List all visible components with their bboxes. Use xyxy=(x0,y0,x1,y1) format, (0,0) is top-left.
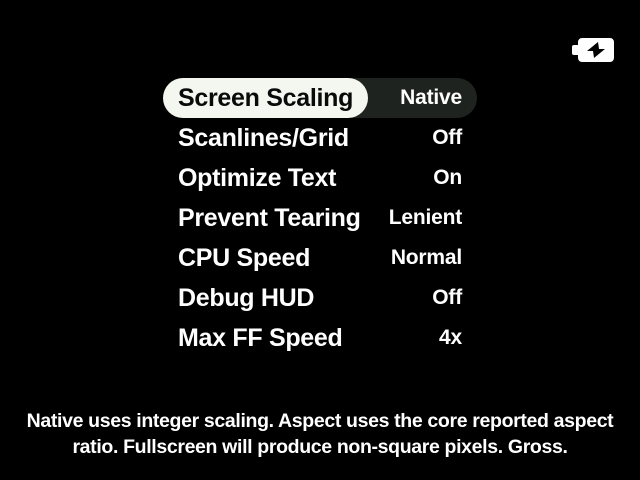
menu-row-label: Prevent Tearing xyxy=(163,204,361,232)
menu-row-label: Scanlines/Grid xyxy=(163,124,349,152)
menu-row-label-wrap: Max FF Speed xyxy=(163,318,343,358)
menu-row-label: Debug HUD xyxy=(163,284,314,312)
menu-row[interactable]: CPU SpeedNormal xyxy=(163,238,477,278)
menu-row[interactable]: Screen ScalingNative xyxy=(163,78,477,118)
settings-menu-list[interactable]: Screen ScalingNativeScanlines/GridOffOpt… xyxy=(163,78,477,358)
menu-row[interactable]: Optimize TextOn xyxy=(163,158,477,198)
status-bar xyxy=(0,0,640,72)
menu-row-label: Screen Scaling xyxy=(163,84,353,112)
menu-row-label-wrap: Debug HUD xyxy=(163,278,314,318)
menu-row-label-wrap: Scanlines/Grid xyxy=(163,118,349,158)
menu-row-value[interactable]: 4x xyxy=(439,318,477,358)
settings-screen: Screen ScalingNativeScanlines/GridOffOpt… xyxy=(0,0,640,480)
menu-row[interactable]: Max FF Speed4x xyxy=(163,318,477,358)
menu-row-value[interactable]: Lenient xyxy=(389,198,477,238)
menu-row-value[interactable]: Off xyxy=(432,118,477,158)
setting-description: Native uses integer scaling. Aspect uses… xyxy=(0,408,640,460)
menu-row-label-wrap: Screen Scaling xyxy=(163,78,353,118)
menu-row-value[interactable]: On xyxy=(433,158,477,198)
lightning-bolt-icon xyxy=(584,41,608,59)
menu-row-label-wrap: Optimize Text xyxy=(163,158,336,198)
menu-row-label-wrap: CPU Speed xyxy=(163,238,310,278)
menu-row-label: Optimize Text xyxy=(163,164,336,192)
menu-row[interactable]: Prevent TearingLenient xyxy=(163,198,477,238)
menu-row-value[interactable]: Off xyxy=(432,278,477,318)
battery-charging-icon xyxy=(572,38,614,62)
menu-row-label: CPU Speed xyxy=(163,244,310,272)
menu-row[interactable]: Debug HUDOff xyxy=(163,278,477,318)
menu-row-label-wrap: Prevent Tearing xyxy=(163,198,361,238)
menu-row-label: Max FF Speed xyxy=(163,324,343,352)
menu-row-value[interactable]: Normal xyxy=(391,238,477,278)
menu-row[interactable]: Scanlines/GridOff xyxy=(163,118,477,158)
menu-row-value[interactable]: Native xyxy=(400,78,477,118)
